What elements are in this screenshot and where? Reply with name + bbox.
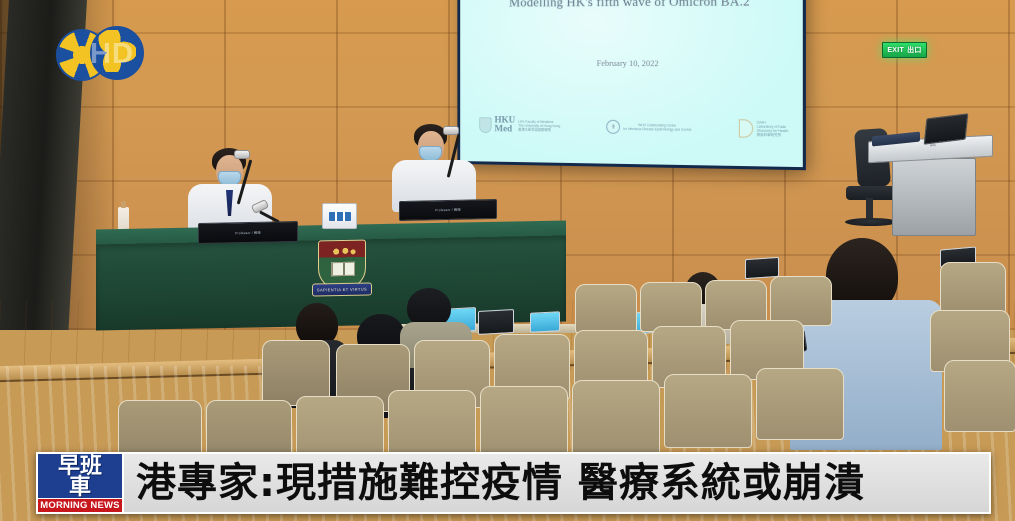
hku-line3: 香港大學李嘉誠醫學院 bbox=[518, 128, 560, 133]
news-program-logo-cn-line1: 早班 bbox=[58, 456, 102, 477]
nameplate-left-text: Professor / 教授 bbox=[235, 230, 260, 235]
exit-sign: EXIT 出口 bbox=[882, 42, 927, 58]
hku-crest-book-icon bbox=[331, 262, 355, 276]
broadcast-frame: Modelling HK's fifth wave of Omicron BA.… bbox=[0, 0, 1015, 521]
slide-date: February 10, 2022 bbox=[460, 57, 803, 68]
who-centre-text: WHO Collaborating Centre for Infectious … bbox=[623, 123, 691, 132]
who-emblem-icon: ☤ bbox=[606, 120, 620, 134]
seat-r1-4 bbox=[770, 276, 832, 326]
who-line2: for Infectious Disease Epidemiology and … bbox=[623, 127, 691, 132]
d24h-line4: 數據科學研究所 bbox=[757, 133, 789, 138]
nameplate-right: Professor / 教授 bbox=[399, 199, 497, 221]
hd-badge: HD bbox=[90, 40, 134, 69]
hku-crest-motto: SAPIENTIA ET VIRTUS bbox=[312, 282, 372, 296]
seat-r1-2 bbox=[640, 282, 702, 332]
nameplate-left: Professor / 教授 bbox=[198, 221, 298, 244]
hku-abbr-line2: Med bbox=[494, 125, 515, 134]
laptop-open-5 bbox=[745, 257, 779, 279]
news-program-logo: 早班 車 MORNING NEWS bbox=[36, 452, 124, 514]
news-program-logo-en: MORNING NEWS bbox=[38, 498, 122, 512]
speaker-right-face-mask bbox=[419, 146, 442, 161]
exit-sign-en: EXIT bbox=[887, 47, 904, 54]
lectern-monitor bbox=[924, 113, 969, 144]
laptop-open-2 bbox=[478, 309, 514, 335]
laptop-open-3 bbox=[530, 311, 560, 333]
seat-r3-5 bbox=[572, 380, 660, 456]
seat-r3-7 bbox=[756, 368, 844, 440]
nameplate-right-text: Professor / 教授 bbox=[435, 208, 460, 213]
hku-crest: SAPIENTIA ET VIRTUS bbox=[312, 237, 372, 304]
d24h-text: D24H Laboratory of Data Discovery for He… bbox=[757, 120, 789, 138]
seat-r1-6 bbox=[940, 262, 1006, 314]
projection-screen: Modelling HK's fifth wave of Omicron BA.… bbox=[460, 0, 803, 167]
microphone-right bbox=[443, 126, 459, 135]
lectern-body bbox=[892, 158, 976, 236]
who-collaborating-centre-logo: ☤ WHO Collaborating Centre for Infectiou… bbox=[606, 120, 691, 135]
slide-title: Modelling HK's fifth wave of Omicron BA.… bbox=[460, 0, 803, 11]
center-placard-logo-icon bbox=[329, 212, 351, 221]
seat-r1-1 bbox=[575, 284, 637, 334]
d24h-mark-icon bbox=[739, 119, 753, 137]
hku-shield-icon bbox=[479, 117, 491, 133]
hku-med-abbr: HKU Med bbox=[494, 116, 515, 134]
news-lower-third-banner: 早班 車 MORNING NEWS 港專家:現措施難控疫情 醫療系統或崩潰 bbox=[36, 452, 991, 514]
hku-crest-lions-icon bbox=[331, 246, 357, 257]
office-chair-base bbox=[845, 218, 897, 226]
news-program-logo-cn-line2: 車 bbox=[69, 477, 91, 498]
hku-med-fullname: LKS Faculty of Medicine The University o… bbox=[518, 119, 560, 132]
seat-r3-6 bbox=[664, 374, 752, 448]
center-placard bbox=[322, 203, 357, 229]
exit-sign-cn: 出口 bbox=[907, 45, 922, 55]
microphone-left bbox=[234, 150, 250, 159]
projector-glow bbox=[460, 0, 803, 167]
d24h-logo: D24H Laboratory of Data Discovery for He… bbox=[739, 119, 788, 138]
news-headline-text: 港專家:現措施難控疫情 醫療系統或崩潰 bbox=[136, 461, 865, 505]
hku-med-logo: HKU Med LKS Faculty of Medicine The Univ… bbox=[479, 116, 560, 135]
seat-r3-9 bbox=[944, 360, 1015, 432]
news-headline-bar: 港專家:現措施難控疫情 醫療系統或崩潰 bbox=[124, 452, 991, 514]
